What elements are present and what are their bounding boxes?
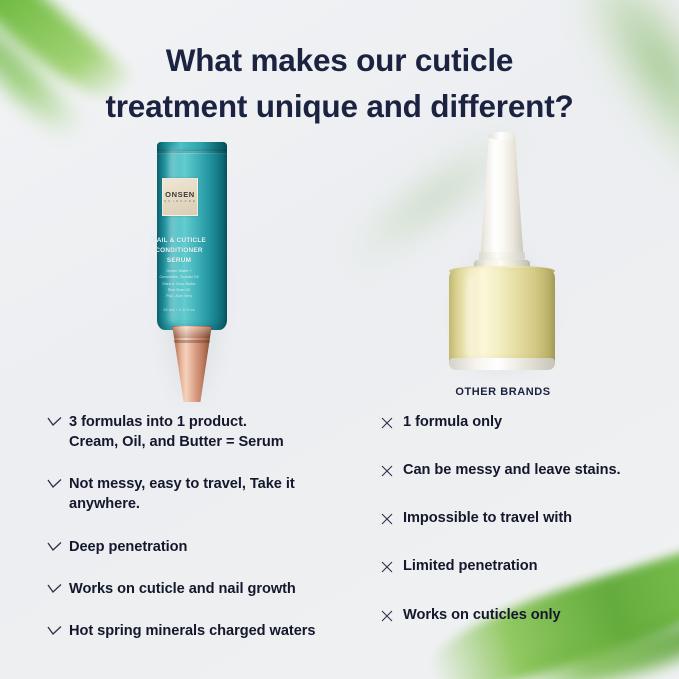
list-item: Impossible to travel with	[381, 508, 676, 528]
list-item-label: Works on cuticle and nail growth	[69, 579, 296, 599]
tube-product-name-line-1: NAIL & CUTICLE	[152, 237, 206, 244]
list-item-label: Limited penetration	[403, 556, 537, 576]
list-item-line-1: Works on cuticles only	[403, 607, 561, 623]
list-item-label: 3 formulas into 1 product. Cream, Oil, a…	[69, 412, 284, 452]
cross-icon	[381, 508, 403, 525]
list-item-line-1: Can be messy and leave stains.	[403, 462, 621, 478]
check-icon	[47, 579, 69, 594]
list-item-label: Impossible to travel with	[403, 508, 572, 528]
tube-nozzle-groove	[173, 340, 211, 343]
check-icon	[47, 621, 69, 636]
list-item-label: Works on cuticles only	[403, 605, 561, 625]
product-images: ONSEN S K I N C A R E NAIL & CUTICLE CON…	[0, 130, 679, 410]
bottle-cap-top	[488, 132, 516, 140]
list-item-line-1: Not messy, easy to travel, Take it	[69, 476, 295, 492]
list-item-label: 1 formula only	[403, 412, 502, 432]
cross-icon	[381, 412, 403, 429]
tube-ingredient-line-1: Onsen Water +	[166, 269, 191, 273]
tube-nozzle-ring	[172, 327, 212, 338]
list-item: Can be messy and leave stains.	[381, 460, 676, 480]
list-item: Deep penetration	[47, 537, 357, 557]
list-item-line-1: Hot spring minerals charged waters	[69, 623, 315, 639]
other-brand-bottle-image	[438, 134, 568, 372]
check-icon	[47, 474, 69, 489]
tube-crimp-seal	[157, 142, 227, 153]
check-icon	[47, 537, 69, 552]
list-item-line-2: Cream, Oil, and Butter = Serum	[69, 432, 284, 452]
list-item-line-1: Limited penetration	[403, 558, 537, 574]
list-item: Limited penetration	[381, 556, 676, 576]
list-item-line-1: 1 formula only	[403, 414, 502, 430]
list-item-label: Can be messy and leave stains.	[403, 460, 621, 480]
cross-icon	[381, 605, 403, 622]
list-item: Works on cuticles only	[381, 605, 676, 625]
page-title-line-2: treatment unique and different?	[0, 83, 679, 129]
product-comparison-infographic: What makes our cuticle treatment unique …	[0, 0, 679, 679]
tube-brand-label: ONSEN S K I N C A R E	[162, 178, 198, 216]
onsen-tube-product-image: ONSEN S K I N C A R E NAIL & CUTICLE CON…	[144, 142, 240, 404]
tube-size-label: 15 mL / 0.5 fl oz	[154, 308, 204, 312]
list-item: 3 formulas into 1 product. Cream, Oil, a…	[47, 412, 357, 452]
tube-ingredient-line-3: Shea & Coco Butter	[162, 282, 196, 286]
list-item-label: Not messy, easy to travel, Take it anywh…	[69, 474, 295, 514]
list-item-label: Deep penetration	[69, 537, 187, 557]
page-title-line-1: What makes our cuticle	[166, 42, 513, 78]
list-item-line-1: Works on cuticle and nail growth	[69, 581, 296, 597]
list-item-line-1: Impossible to travel with	[403, 510, 572, 526]
tube-brand-subtitle: S K I N C A R E	[164, 200, 196, 203]
bottle-cap	[479, 134, 525, 258]
tube-ingredients: Onsen Water + Ceramides, Tsubaki Oil She…	[154, 268, 204, 299]
list-item-label: Hot spring minerals charged waters	[69, 621, 315, 641]
bottle-body	[449, 268, 555, 368]
list-item-line-1: Deep penetration	[69, 539, 187, 555]
check-icon	[47, 412, 69, 427]
cross-icon	[381, 460, 403, 477]
bottle-highlight	[466, 274, 479, 360]
tube-product-name: NAIL & CUTICLE CONDITIONER SERUM	[150, 236, 208, 266]
tube-ingredient-line-2: Ceramides, Tsubaki Oil	[159, 275, 198, 279]
list-item: Hot spring minerals charged waters	[47, 621, 357, 641]
tube-ingredient-line-4: Rice Bran Oil	[168, 288, 190, 292]
tube-product-name-line-2: CONDITIONER	[155, 247, 203, 254]
our-product-benefits-list: 3 formulas into 1 product. Cream, Oil, a…	[47, 412, 357, 663]
tube-product-name-line-3: SERUM	[167, 257, 191, 264]
page-title: What makes our cuticle treatment unique …	[0, 37, 679, 130]
other-brands-caption: OTHER BRANDS	[388, 386, 618, 398]
list-item: Works on cuticle and nail growth	[47, 579, 357, 599]
other-brands-drawbacks-list: 1 formula only Can be messy and leave st…	[381, 412, 676, 653]
list-item-line-1: 3 formulas into 1 product.	[69, 414, 247, 430]
tube-ingredient-line-5: PsO, Aloe Vera	[166, 294, 192, 298]
list-item: Not messy, easy to travel, Take it anywh…	[47, 474, 357, 514]
tube-brand-name: ONSEN	[165, 191, 195, 199]
cross-icon	[381, 556, 403, 573]
bottle-base	[449, 358, 555, 370]
list-item-line-2: anywhere.	[69, 494, 295, 514]
list-item: 1 formula only	[381, 412, 676, 432]
